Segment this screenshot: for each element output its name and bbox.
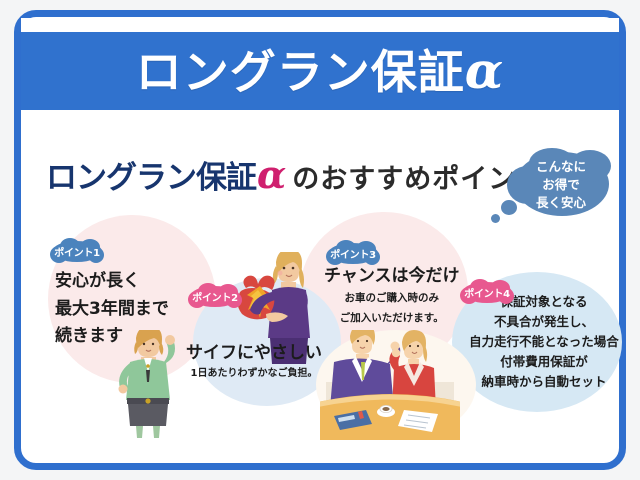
coffee <box>382 407 389 411</box>
speech-bubble: こんなに お得で 長く安心 <box>507 148 615 222</box>
leg <box>153 426 160 438</box>
point-4-line-2: 不具合が発生し、 <box>464 312 624 332</box>
subtitle: ロングラン保証 α のおすすめポイント <box>46 152 544 197</box>
woman-hand <box>392 349 400 357</box>
point-1-line-3: 続きます <box>55 323 169 351</box>
point-1-line-1: 安心が長く <box>55 268 169 296</box>
point-3-text: チャンスは今だけ お車のご購入時のみ ご加入いただけます。 <box>324 265 460 327</box>
point-2-sub-1: 1日あたりわずかなご負担。 <box>186 367 322 380</box>
point-2-text: サイフにやさしい 1日あたりわずかなご負担。 <box>186 342 322 380</box>
woman-eye <box>409 345 411 347</box>
subtitle-alpha: α <box>257 152 286 197</box>
bubble-line-2: お得で <box>542 176 580 194</box>
header-bottom-gap <box>21 110 619 124</box>
badge-point-4-label: ポイント4 <box>460 279 514 305</box>
subtitle-brand: ロングラン保証 <box>46 152 256 197</box>
point-3-sub-1: お車のご購入時のみ <box>324 291 460 307</box>
header-title-main: ロングラン保証 <box>136 45 465 99</box>
header-title-alpha: α <box>465 41 504 100</box>
woman-hair-long <box>423 344 427 362</box>
man-eye <box>357 340 359 342</box>
eye <box>283 267 286 270</box>
belt-buckle-icon <box>145 398 150 403</box>
poster-root: ロングラン保証α ロングラン保証 α のおすすめポイント こんなに お得で 長く… <box>0 0 640 480</box>
point-4-line-5: 納車時から自動セット <box>464 372 624 392</box>
illustration-couple-table <box>320 330 460 440</box>
badge-point-1-label: ポイント1 <box>50 238 104 264</box>
badge-point-3: ポイント3 <box>326 240 380 266</box>
skirt <box>128 404 168 426</box>
badge-point-3-label: ポイント3 <box>326 240 380 266</box>
bubble-tail-icon <box>491 214 500 223</box>
point-1-line-2: 最大3年間まで <box>55 296 169 324</box>
point-1-text: 安心が長く 最大3年間まで 続きます <box>55 268 169 351</box>
point-2-line-1: サイフにやさしい <box>186 342 322 364</box>
header-band: ロングラン保証α <box>21 32 619 110</box>
badge-point-4: ポイント4 <box>460 279 514 305</box>
bubble-line-3: 長く安心 <box>536 194 586 212</box>
eye <box>292 267 295 270</box>
page-title: ロングラン保証α <box>136 46 504 96</box>
man-eye <box>366 340 368 342</box>
leg <box>136 426 143 438</box>
badge-point-2: ポイント2 <box>188 283 242 309</box>
speech-bubble-text: こんなに お得で 長く安心 <box>507 148 615 222</box>
hair-long <box>299 266 304 288</box>
blush <box>278 271 283 276</box>
bubble-line-1: こんなに <box>536 158 586 176</box>
point-4-text: 保証対象となる 不具合が発生し、 自力走行不能となった場合 付帯費用保証が 納車… <box>464 292 624 392</box>
necklace-icon <box>146 364 150 368</box>
woman-eye <box>417 345 419 347</box>
point-3-line-1: チャンスは今だけ <box>324 265 460 287</box>
header-top-gap <box>21 18 619 32</box>
point-4-line-4: 付帯費用保証が <box>464 352 624 372</box>
hand-hip <box>119 385 128 394</box>
badge-point-2-label: ポイント2 <box>188 283 242 309</box>
point-3-sub-2: ご加入いただけます。 <box>324 311 460 327</box>
point-4-line-3: 自力走行不能となった場合 <box>464 332 624 352</box>
badge-point-1: ポイント1 <box>50 238 104 264</box>
